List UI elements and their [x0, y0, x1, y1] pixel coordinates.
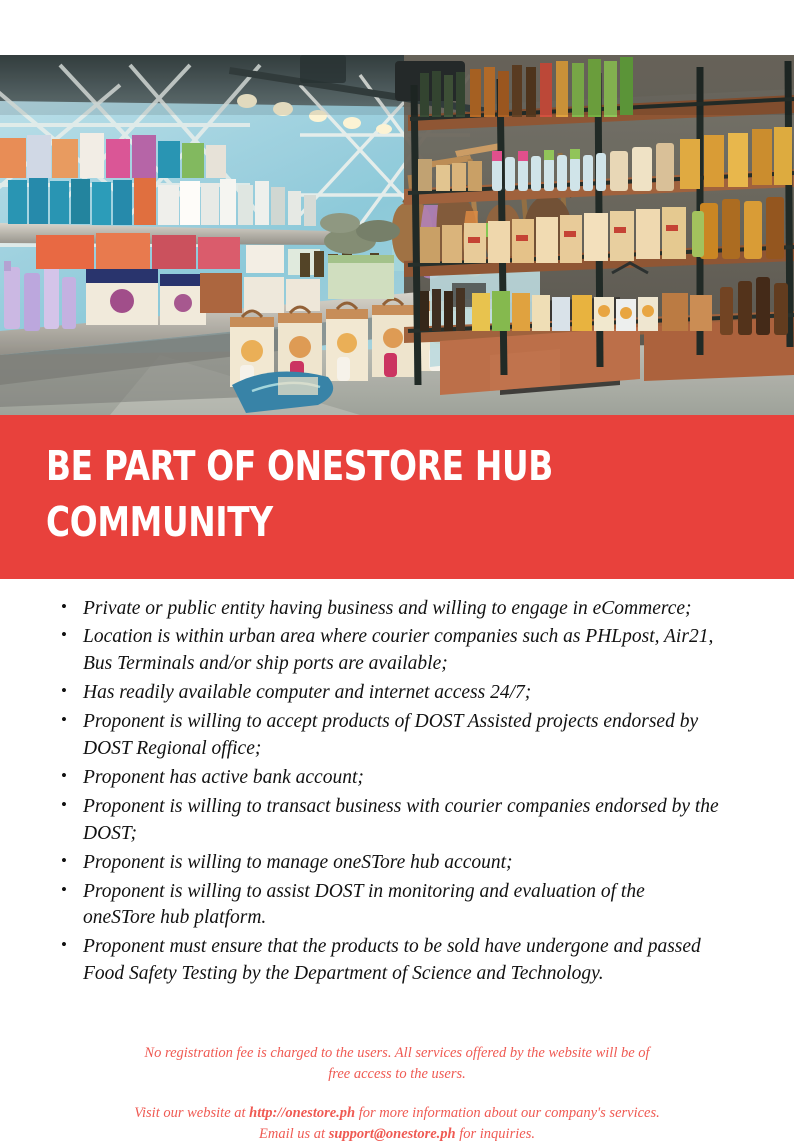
list-item: Proponent is willing to transact busines… [56, 794, 721, 848]
title-banner: BE PART OF ONESTORE HUB COMMUNITY [0, 415, 794, 579]
contact-note-suffix: for inquiries. [456, 1126, 535, 1142]
list-item: Proponent must ensure that the products … [56, 934, 721, 988]
page-title: BE PART OF ONESTORE HUB COMMUNITY [46, 439, 748, 551]
top-white-margin [0, 0, 794, 55]
list-item: Proponent is willing to assist DOST in m… [56, 879, 721, 933]
list-item: Proponent has active bank account; [56, 765, 721, 792]
contact-note: Visit our website at http://onestore.ph … [134, 1103, 660, 1144]
flyer-page: BE PART OF ONESTORE HUB COMMUNITY Privat… [0, 0, 794, 1123]
list-item: Proponent is willing to accept products … [56, 709, 721, 763]
email-link[interactable]: support@onestore.ph [329, 1126, 456, 1142]
footer-notes: No registration fee is charged to the us… [56, 990, 738, 1144]
list-item: Private or public entity having business… [56, 596, 721, 623]
requirements-list: Private or public entity having business… [56, 596, 738, 989]
website-link[interactable]: http://onestore.ph [249, 1105, 355, 1121]
contact-note-prefix: Visit our website at [134, 1105, 249, 1121]
store-interior-photo [0, 55, 794, 415]
list-item: Location is within urban area where cour… [56, 624, 721, 678]
registration-fee-note: No registration fee is charged to the us… [134, 1043, 660, 1084]
list-item: Proponent is willing to manage oneSTore … [56, 850, 721, 877]
list-item: Has readily available computer and inter… [56, 680, 721, 707]
requirements-section: Private or public entity having business… [0, 579, 794, 1145]
